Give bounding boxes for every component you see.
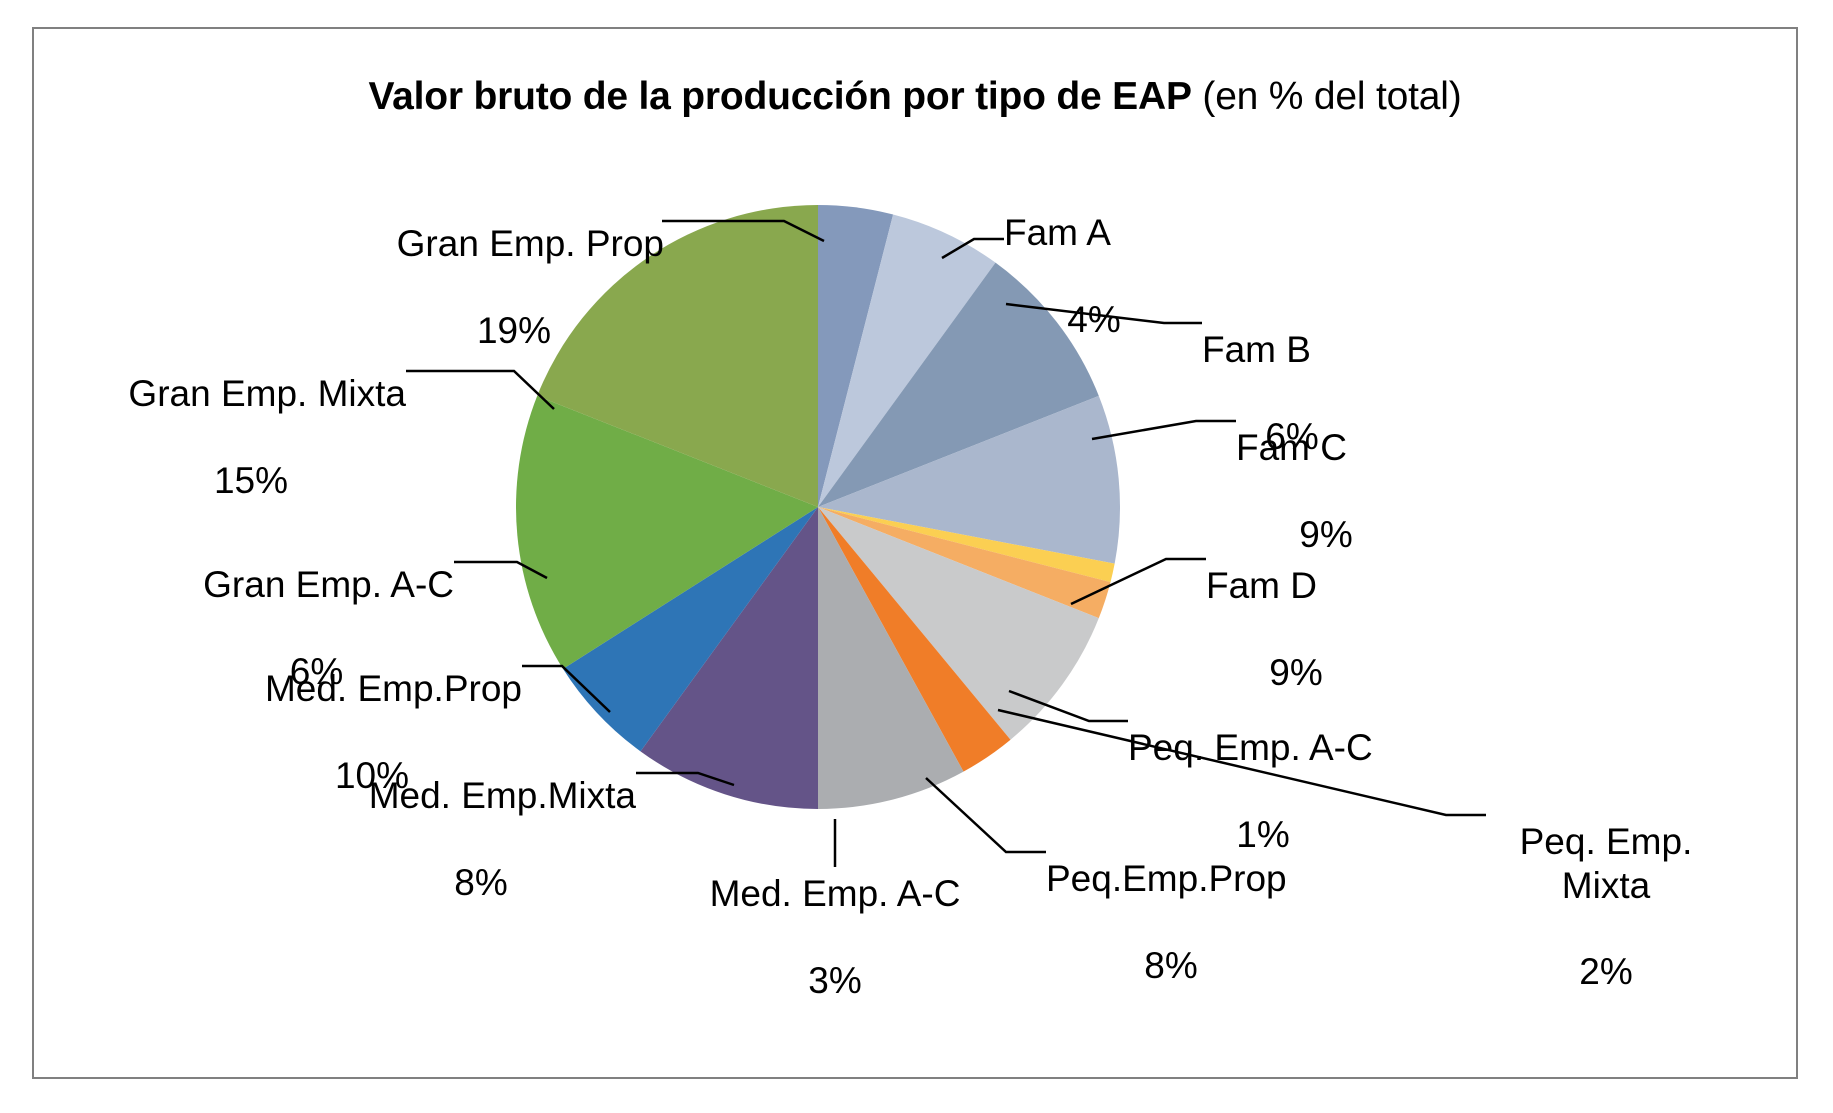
pie-label-gran-emp-mixta: Gran Emp. Mixta 15% <box>96 329 406 545</box>
pie-label-fam-a: Fam A 4% <box>1004 168 1184 384</box>
pie-label-med-emp-ac-name: Med. Emp. A-C <box>685 872 985 915</box>
pie-label-peq-emp-mixta: Peq. Emp. Mixta 2% <box>1486 777 1726 1037</box>
pie-label-fam-b: Fam B 6% <box>1202 285 1382 501</box>
pie-label-med-emp-mixta-value: 8% <box>326 861 636 904</box>
pie-label-fam-b-value: 6% <box>1202 415 1382 458</box>
pie-label-fam-a-name: Fam A <box>1004 211 1184 254</box>
pie-label-peq-emp-mixta-value: 2% <box>1486 950 1726 993</box>
pie-label-gran-emp-prop-name: Gran Emp. Prop <box>364 222 664 265</box>
pie-label-peq-emp-mixta-name: Peq. Emp. Mixta <box>1486 820 1726 907</box>
pie-label-gran-emp-ac-name: Gran Emp. A-C <box>179 563 454 606</box>
chart-frame: Valor bruto de la producción por tipo de… <box>32 27 1798 1079</box>
pie-label-med-emp-ac-value: 3% <box>685 959 985 1002</box>
pie-label-med-emp-prop-name: Med. Emp.Prop <box>222 667 522 710</box>
pie-label-fam-a-value: 4% <box>1004 298 1184 341</box>
pie-label-gran-emp-prop: Gran Emp. Prop 19% <box>364 179 664 395</box>
pie-label-med-emp-mixta-name: Med. Emp.Mixta <box>326 774 636 817</box>
pie-label-peq-emp-ac-value: 1% <box>1128 813 1398 856</box>
pie-label-fam-c-value: 9% <box>1236 513 1416 556</box>
pie-label-gran-emp-prop-value: 19% <box>364 309 664 352</box>
pie-label-gran-emp-mixta-value: 15% <box>96 459 406 502</box>
pie-label-fam-d-value: 9% <box>1206 651 1386 694</box>
pie-label-peq-emp-prop-value: 8% <box>1046 944 1296 987</box>
pie-label-gran-emp-mixta-name: Gran Emp. Mixta <box>96 372 406 415</box>
pie-label-med-emp-mixta: Med. Emp.Mixta 8% <box>326 731 636 947</box>
pie-label-fam-b-name: Fam B <box>1202 328 1382 371</box>
pie-label-med-emp-ac: Med. Emp. A-C 3% <box>685 829 985 1045</box>
